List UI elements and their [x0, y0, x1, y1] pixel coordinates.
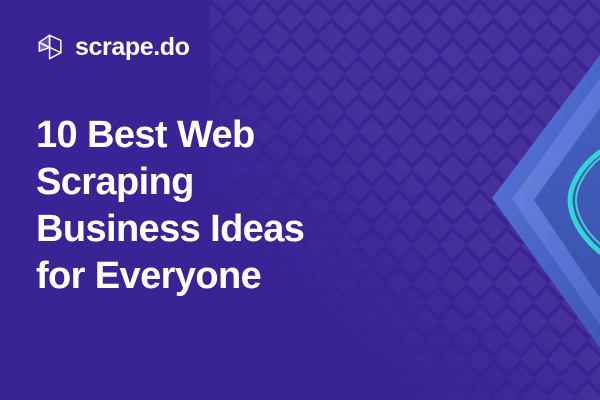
- chevron-cyan-accent-glow: [576, 158, 600, 244]
- chevron-outer-band: [492, 55, 600, 348]
- page-title: 10 Best Web Scraping Business Ideas for …: [36, 112, 346, 300]
- brand-logo[interactable]: scrape.do: [36, 32, 190, 62]
- chevron-mid-band: [512, 78, 600, 325]
- scrape-do-cube-logo-icon: [36, 32, 66, 62]
- brand-wordmark: scrape.do: [75, 35, 190, 60]
- chevron-inner-band: [534, 108, 600, 298]
- chevron-arrow-graphic: [450, 0, 600, 400]
- blog-cover-card: scrape.do 10 Best Web Scraping Business …: [0, 0, 600, 400]
- chevron-cyan-accent: [570, 152, 600, 252]
